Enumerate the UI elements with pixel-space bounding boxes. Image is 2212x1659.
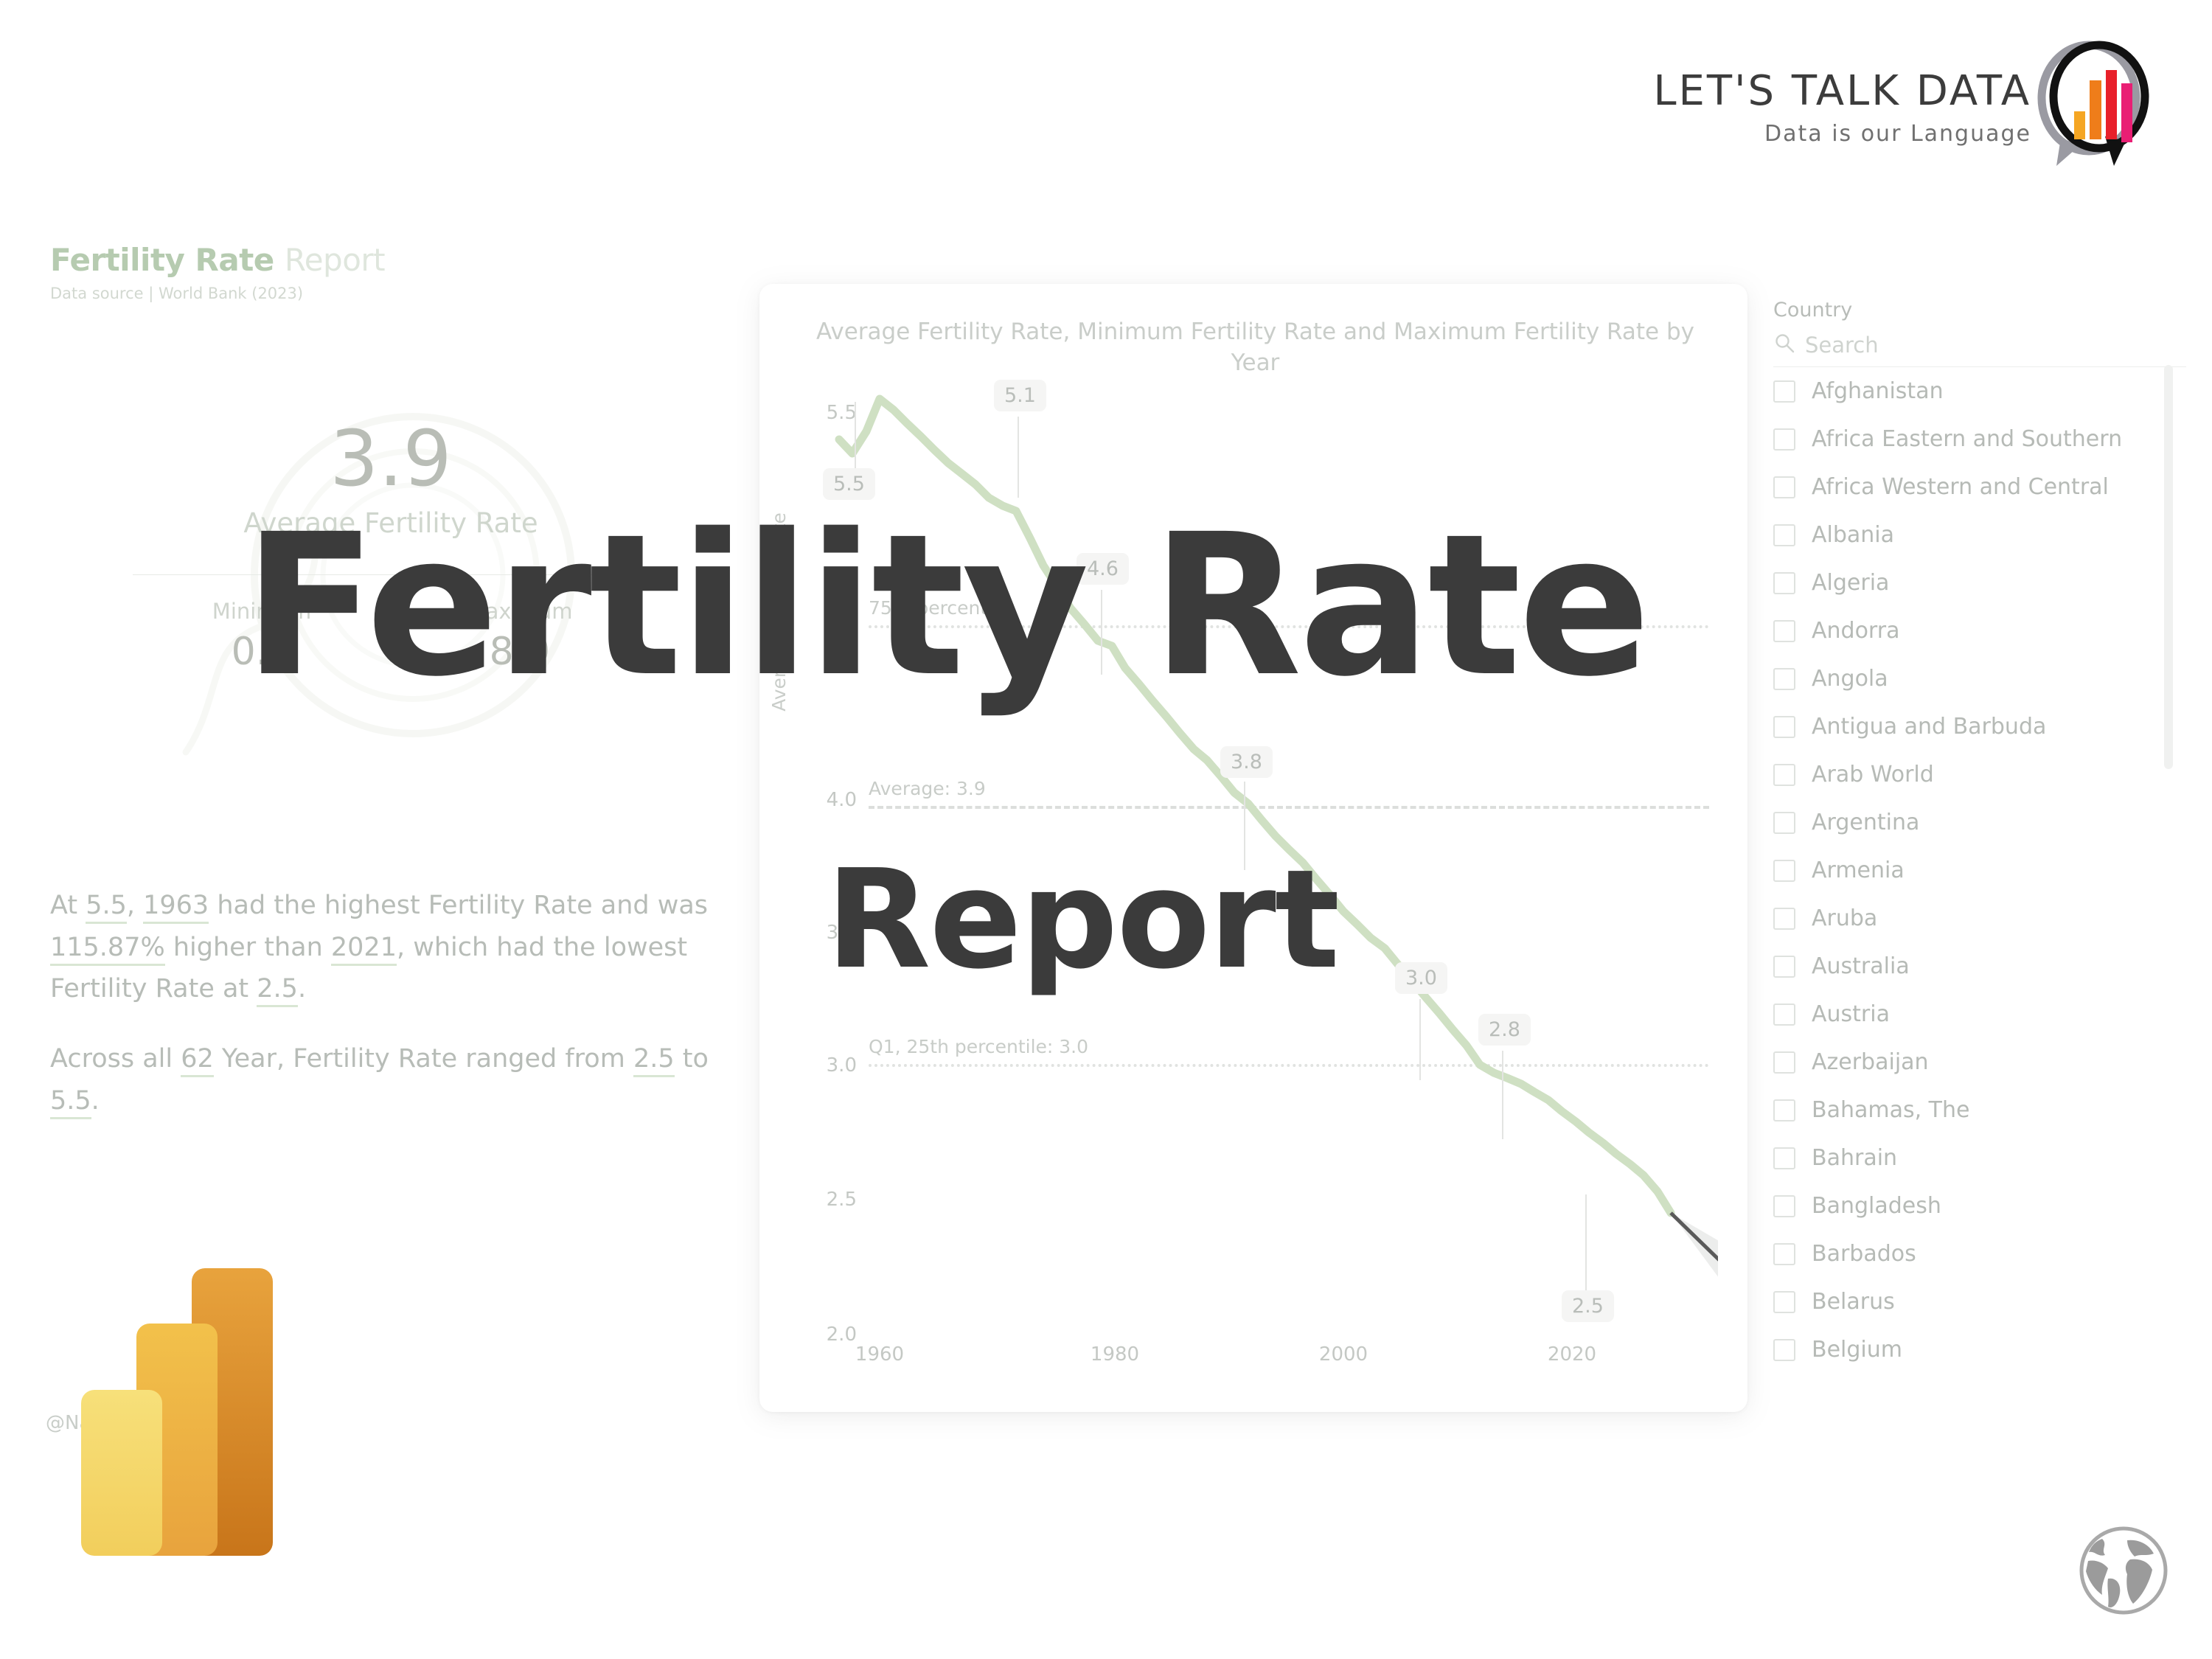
country-list-item-label: Africa Eastern and Southern [1812,426,2122,452]
narr-v6: 62 [181,1044,214,1077]
narr-v7: 2.5 [633,1044,675,1077]
country-list-item[interactable]: Afghanistan [1773,367,2186,415]
country-list-item[interactable]: Belgium [1773,1326,2186,1374]
callout-leader-6 [1585,1194,1587,1290]
country-list-item-label: Barbados [1812,1241,1916,1267]
callout-leader-5 [1502,1051,1503,1139]
country-list-item-label: Andorra [1812,618,1899,644]
brand-title: LET'S TALK DATA [1582,70,2031,114]
callout-leader-1 [1018,417,1019,498]
country-slicer: Country Search AfghanistanAfrica Eastern… [1773,299,2186,1374]
page-title-bold: Fertility Rate [50,242,274,278]
country-list-item-label: Argentina [1812,810,1919,835]
checkbox-icon[interactable] [1773,764,1795,786]
country-list-item[interactable]: Austria [1773,990,2186,1038]
country-list-item[interactable]: Barbados [1773,1230,2186,1278]
country-list-item[interactable]: Argentina [1773,799,2186,846]
narr-v4: 2021 [331,933,397,966]
callout-value-5: 2.8 [1478,1014,1531,1046]
callout-value-6: 2.5 [1562,1290,1614,1322]
country-list-item[interactable]: Bangladesh [1773,1182,2186,1230]
country-list-item[interactable]: Albania [1773,511,2186,559]
country-slicer-title: Country [1773,299,2186,321]
page-title: Fertility Rate Report [50,243,385,277]
checkbox-icon[interactable] [1773,1004,1795,1026]
speech-bubble-bar-chart-icon [2031,41,2157,173]
checkbox-icon[interactable] [1773,908,1795,930]
narr-v5: 2.5 [257,974,298,1007]
callout-value-3: 3.8 [1220,746,1273,778]
callout-value-4: 3.0 [1395,962,1447,994]
overlay-title-line-1: Fertility Rate [243,509,1648,704]
country-list-item-label: Belgium [1812,1337,1902,1363]
country-list-item[interactable]: Angola [1773,655,2186,703]
power-bi-logo-icon [74,1253,324,1571]
checkbox-icon[interactable] [1773,476,1795,498]
narrative-paragraph-1: At 5.5, 1963 had the highest Fertility R… [50,885,743,1010]
country-list-item-label: Australia [1812,953,1910,979]
callout-leader-0 [855,402,856,468]
checkbox-icon[interactable] [1773,1243,1795,1265]
country-list-item[interactable]: Azerbaijan [1773,1038,2186,1086]
country-list-item[interactable]: Australia [1773,942,2186,990]
data-source-label: Data source | World Bank (2023) [50,285,385,302]
checkbox-icon[interactable] [1773,1291,1795,1313]
narr-t6: . [298,974,306,1004]
checkbox-icon[interactable] [1773,1099,1795,1121]
country-list-item-label: Africa Western and Central [1812,474,2109,500]
country-list-item[interactable]: Africa Eastern and Southern [1773,415,2186,463]
page-title-light: Report [285,242,385,278]
narr-t3: had the highest Fertility Rate and was [209,891,708,920]
country-list-item-label: Arab World [1812,762,1934,787]
globe-icon [2076,1523,2171,1618]
country-list[interactable]: AfghanistanAfrica Eastern and SouthernAf… [1773,367,2186,1374]
country-list-item-label: Angola [1812,666,1888,692]
narrative-summary: At 5.5, 1963 had the highest Fertility R… [50,885,743,1150]
country-list-item-label: Austria [1812,1001,1890,1027]
country-list-item-label: Afghanistan [1812,378,1944,404]
country-list-item-label: Antigua and Barbuda [1812,714,2046,740]
country-list-item-label: Algeria [1812,570,1889,596]
checkbox-icon[interactable] [1773,716,1795,738]
country-list-item[interactable]: Antigua and Barbuda [1773,703,2186,751]
narr-v3: 115.87% [50,933,165,966]
callout-leader-4 [1419,999,1421,1080]
kpi-average-value: 3.9 [133,420,649,497]
country-list-item[interactable]: Bahamas, The [1773,1086,2186,1134]
narr-v2: 1963 [143,891,209,924]
country-list-item[interactable]: Africa Western and Central [1773,463,2186,511]
country-list-item-label: Bahamas, The [1812,1097,1969,1123]
report-header: Fertility Rate Report Data source | Worl… [50,243,385,302]
checkbox-icon[interactable] [1773,860,1795,882]
country-list-item-label: Aruba [1812,905,1877,931]
search-icon [1773,332,1795,358]
checkbox-icon[interactable] [1773,620,1795,642]
narr-t1: At [50,891,86,920]
country-list-item-label: Albania [1812,522,1894,548]
search-input[interactable]: Search [1773,332,2186,367]
country-list-item[interactable]: Algeria [1773,559,2186,607]
checkbox-icon[interactable] [1773,572,1795,594]
country-list-item-label: Bahrain [1812,1145,1897,1171]
search-placeholder: Search [1805,333,1879,358]
country-list-item-label: Armenia [1812,858,1905,883]
narr-t10: . [91,1086,100,1116]
overlay-title-line-2: Report [826,852,1338,988]
checkbox-icon[interactable] [1773,380,1795,403]
country-list-item[interactable]: Belarus [1773,1278,2186,1326]
country-list-item[interactable]: Bahrain [1773,1134,2186,1182]
chart-title: Average Fertility Rate, Minimum Fertilit… [811,317,1700,379]
country-list-item[interactable]: Andorra [1773,607,2186,655]
brand-tagline: Data is our Language [1582,121,2031,147]
narr-t2: , [127,891,143,920]
country-list-item[interactable]: Arab World [1773,751,2186,799]
checkbox-icon[interactable] [1773,1195,1795,1217]
country-list-item-label: Belarus [1812,1289,1895,1315]
checkbox-icon[interactable] [1773,668,1795,690]
country-list-item[interactable]: Aruba [1773,894,2186,942]
callout-value-1: 5.1 [994,380,1046,411]
narr-t7: Across all [50,1044,181,1074]
narr-t9: to [675,1044,709,1074]
country-list-item-label: Bangladesh [1812,1193,1941,1219]
narr-v1: 5.5 [86,891,127,924]
checkbox-icon[interactable] [1773,1051,1795,1074]
checkbox-icon[interactable] [1773,1339,1795,1361]
narr-t8: Year, Fertility Rate ranged from [214,1044,633,1074]
country-list-item[interactable]: Armenia [1773,846,2186,894]
country-list-item-label: Azerbaijan [1812,1049,1929,1075]
narr-v8: 5.5 [50,1086,91,1119]
narrative-paragraph-2: Across all 62 Year, Fertility Rate range… [50,1038,743,1121]
checkbox-icon[interactable] [1773,428,1795,451]
country-list-scrollbar[interactable] [2164,365,2173,769]
checkbox-icon[interactable] [1773,956,1795,978]
checkbox-icon[interactable] [1773,524,1795,546]
checkbox-icon[interactable] [1773,812,1795,834]
checkbox-icon[interactable] [1773,1147,1795,1169]
narr-t4: higher than [165,933,331,962]
brand-logo: LET'S TALK DATA Data is our Language [1582,70,2031,147]
